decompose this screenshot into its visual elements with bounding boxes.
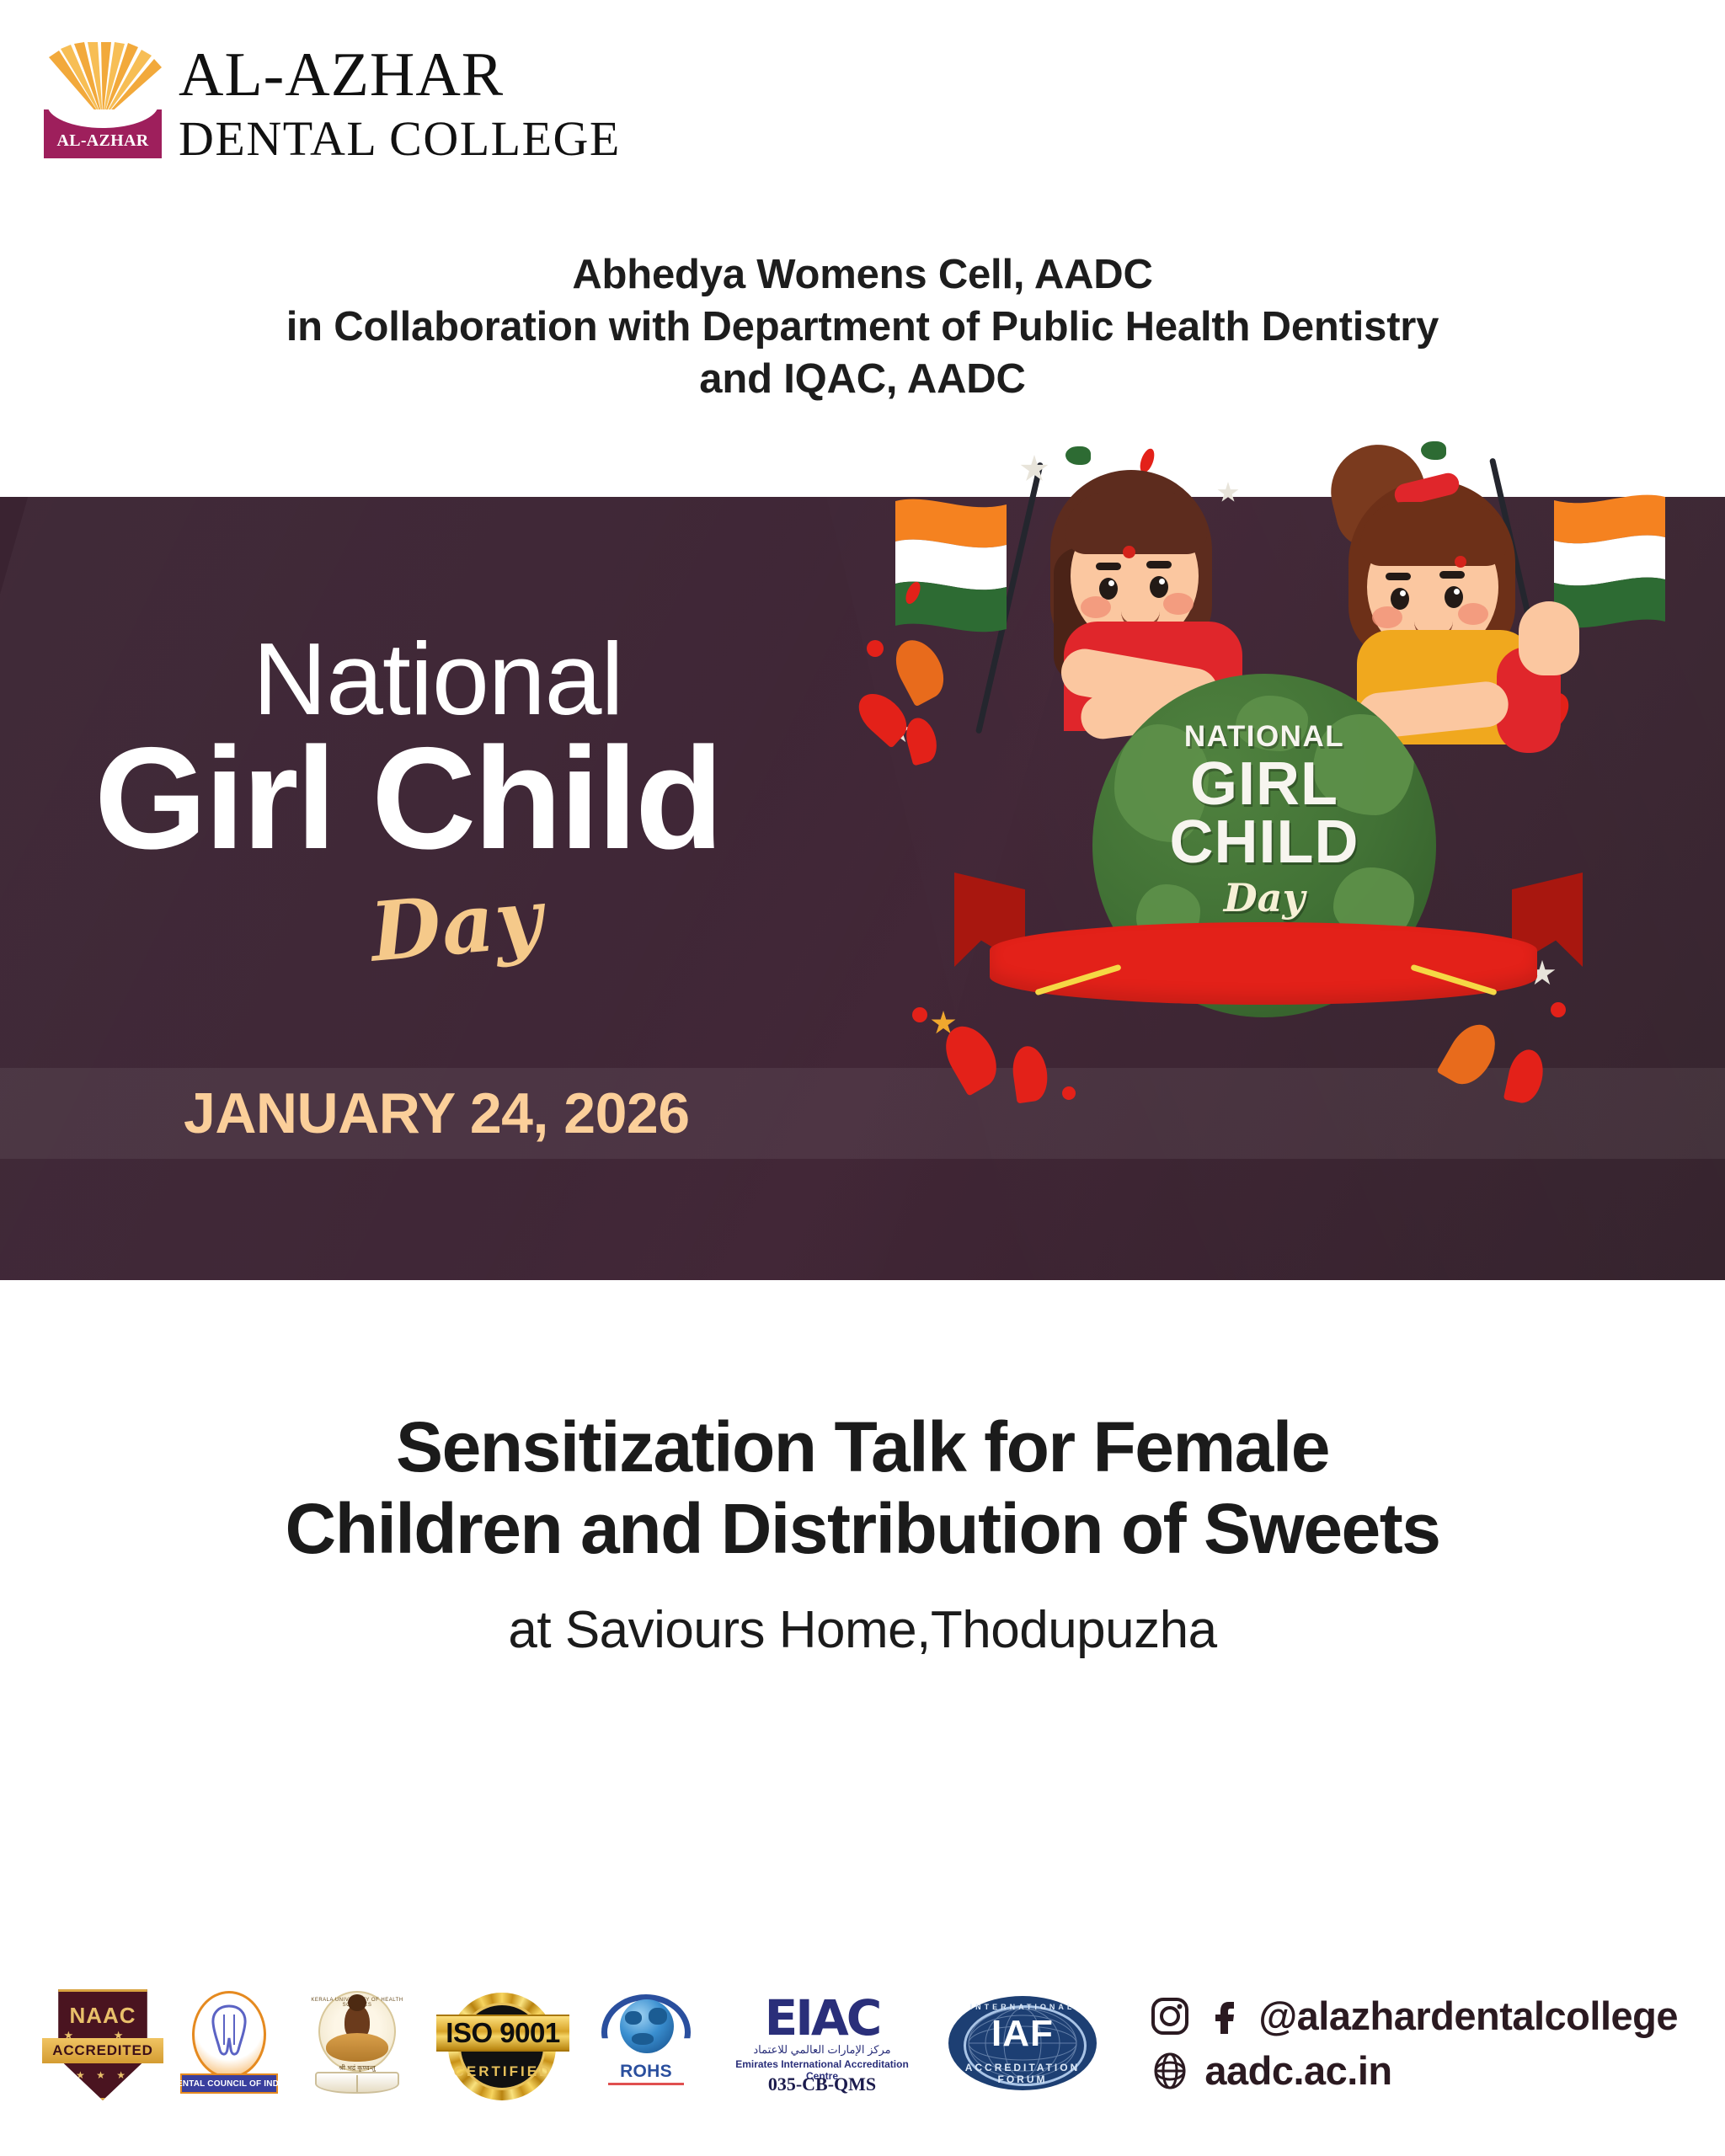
tooth-icon	[207, 2003, 251, 2057]
naac-stars-bottom: ★ ★ ★	[55, 2069, 151, 2081]
eyebrow	[1386, 573, 1411, 580]
poster-footer: NAAC ★ ★ ★ ★ ★ ACCREDITED DENTAL COUNCIL…	[0, 1962, 1725, 2156]
waving-hand	[1519, 601, 1579, 675]
al-azhar-logo-mark: AL-AZHAR	[44, 42, 162, 158]
globe-title-line1: NATIONAL	[1092, 720, 1436, 754]
cheek	[1372, 606, 1402, 628]
book-icon	[315, 2072, 399, 2094]
confetti-drop	[850, 685, 915, 748]
naac-label: NAAC	[55, 2003, 151, 2029]
globe-title-script: Day	[1092, 875, 1436, 921]
kuhs-hand	[326, 2033, 388, 2062]
cheek	[1458, 603, 1488, 625]
college-name: AL-AZHAR DENTAL COLLEGE	[179, 42, 621, 168]
college-logo: AL-AZHAR AL-AZHAR DENTAL COLLEGE	[44, 42, 621, 168]
poster-main: Sensitization Talk for Female Children a…	[0, 1280, 1725, 1962]
banner-title-line2: Girl Child	[94, 726, 721, 871]
red-ribbon	[990, 922, 1537, 1005]
confetti-dot	[1062, 1086, 1076, 1100]
cheek	[1163, 593, 1194, 615]
website-url[interactable]: aadc.ac.in	[1204, 2047, 1391, 2094]
eye	[1099, 578, 1118, 600]
dci-badge: DENTAL COUNCIL OF INDIA	[180, 1991, 278, 2099]
globe-icon	[620, 1999, 674, 2053]
naac-ribbon-label: ACCREDITED	[42, 2038, 163, 2063]
confetti-dot	[1551, 1002, 1566, 1017]
eye	[1445, 586, 1463, 608]
social-contact-block: @alazhardentalcollege aadc.ac.in	[1151, 1993, 1678, 2102]
cheek	[1081, 596, 1111, 618]
eyebrow	[1096, 563, 1121, 570]
confetti-dot	[867, 640, 884, 657]
website-row[interactable]: aadc.ac.in	[1151, 2047, 1678, 2094]
eiac-badge: EIAC مركز الإمارات العالمي للاعتماد Emir…	[723, 1988, 921, 2102]
dci-label: DENTAL COUNCIL OF INDIA	[180, 2073, 278, 2094]
event-venue: at Saviours Home,Thodupuzha	[0, 1600, 1725, 1660]
confetti-drop	[1503, 1047, 1547, 1107]
event-title: Sensitization Talk for Female Children a…	[0, 1406, 1725, 1571]
globe-title-line2: GIRL	[1092, 755, 1436, 814]
indian-flag-left	[889, 493, 988, 661]
confetti-drop	[1010, 1044, 1051, 1104]
eiac-wordmark: EIAC	[723, 1989, 921, 2047]
globe-icon[interactable]	[1151, 2052, 1189, 2090]
confetti-squiggle	[1065, 446, 1091, 465]
banner-title-line1: National	[253, 627, 623, 730]
confetti-drop	[1436, 1017, 1504, 1093]
confetti-dot	[912, 1007, 927, 1022]
confetti-squiggle	[1421, 441, 1446, 460]
kuhs-badge: KERALA UNIVERSITY OF HEALTH SCIENCES श्र…	[305, 1991, 409, 2099]
eiac-arabic-text: مركز الإمارات العالمي للاعتماد	[723, 2043, 921, 2057]
iaf-top-text: INTERNATIONAL	[948, 2003, 1097, 2011]
eye	[1150, 576, 1168, 598]
rohs-label: ROHS	[596, 2062, 696, 2082]
event-title-line1: Sensitization Talk for Female	[0, 1406, 1725, 1488]
fringe	[1065, 492, 1207, 554]
iaf-badge: INTERNATIONAL IAF ACCREDITATION FORUM	[948, 1991, 1097, 2099]
bindi	[1123, 546, 1135, 558]
eyebrow	[1439, 571, 1465, 579]
iaf-bottom-text: ACCREDITATION FORUM	[948, 2062, 1097, 2085]
event-title-line2: Children and Distribution of Sweets	[0, 1488, 1725, 1570]
iso-band: ISO 9001	[436, 2015, 569, 2052]
logo-badge-text: AL-AZHAR	[44, 131, 162, 151]
logo-name-plate: AL-AZHAR	[44, 109, 162, 158]
sunburst-icon	[44, 42, 162, 120]
college-name-line2: DENTAL COLLEGE	[179, 111, 621, 168]
organiser-line-3: and IQAC, AADC	[0, 353, 1725, 405]
instagram-icon[interactable]	[1151, 1997, 1189, 2036]
accreditation-badges: NAAC ★ ★ ★ ★ ★ ACCREDITED DENTAL COUNCIL…	[52, 1986, 1097, 2104]
organiser-line-2: in Collaboration with Department of Publ…	[0, 301, 1725, 353]
rohs-underline	[608, 2083, 684, 2085]
organiser-block: Abhedya Womens Cell, AADC in Collaborati…	[0, 248, 1725, 406]
confetti-drop	[902, 715, 942, 766]
rohs-badge: ROHS	[596, 1989, 696, 2100]
eye	[1391, 588, 1409, 610]
fringe	[1360, 502, 1507, 566]
girl-child-day-illustration: NATIONAL GIRL CHILD Day	[855, 421, 1725, 1280]
event-date: JANUARY 24, 2026	[184, 1081, 690, 1146]
iso-label: ISO 9001	[446, 2017, 559, 2049]
iaf-label: IAF	[948, 2013, 1097, 2055]
facebook-icon[interactable]	[1204, 1997, 1243, 2036]
globe-text: NATIONAL GIRL CHILD Day	[1092, 720, 1436, 921]
iso-certified-label: CERTIFIED	[436, 2063, 569, 2080]
naac-badge: NAAC ★ ★ ★ ★ ★ ACCREDITED	[52, 1989, 153, 2100]
banner-title-script: Day	[366, 870, 546, 979]
social-handle-row[interactable]: @alazhardentalcollege	[1151, 1993, 1678, 2039]
college-name-line1: AL-AZHAR	[179, 44, 621, 106]
social-handle[interactable]: @alazhardentalcollege	[1258, 1993, 1678, 2039]
iso-badge: CERTIFIED ISO 9001	[436, 1986, 569, 2104]
eiac-code: 035-CB-QMS	[723, 2073, 921, 2095]
globe-title-line3: CHILD	[1092, 814, 1436, 872]
confetti-star	[1217, 482, 1239, 504]
bindi	[1455, 556, 1466, 568]
eyebrow	[1146, 561, 1172, 568]
organiser-line-1: Abhedya Womens Cell, AADC	[0, 248, 1725, 301]
